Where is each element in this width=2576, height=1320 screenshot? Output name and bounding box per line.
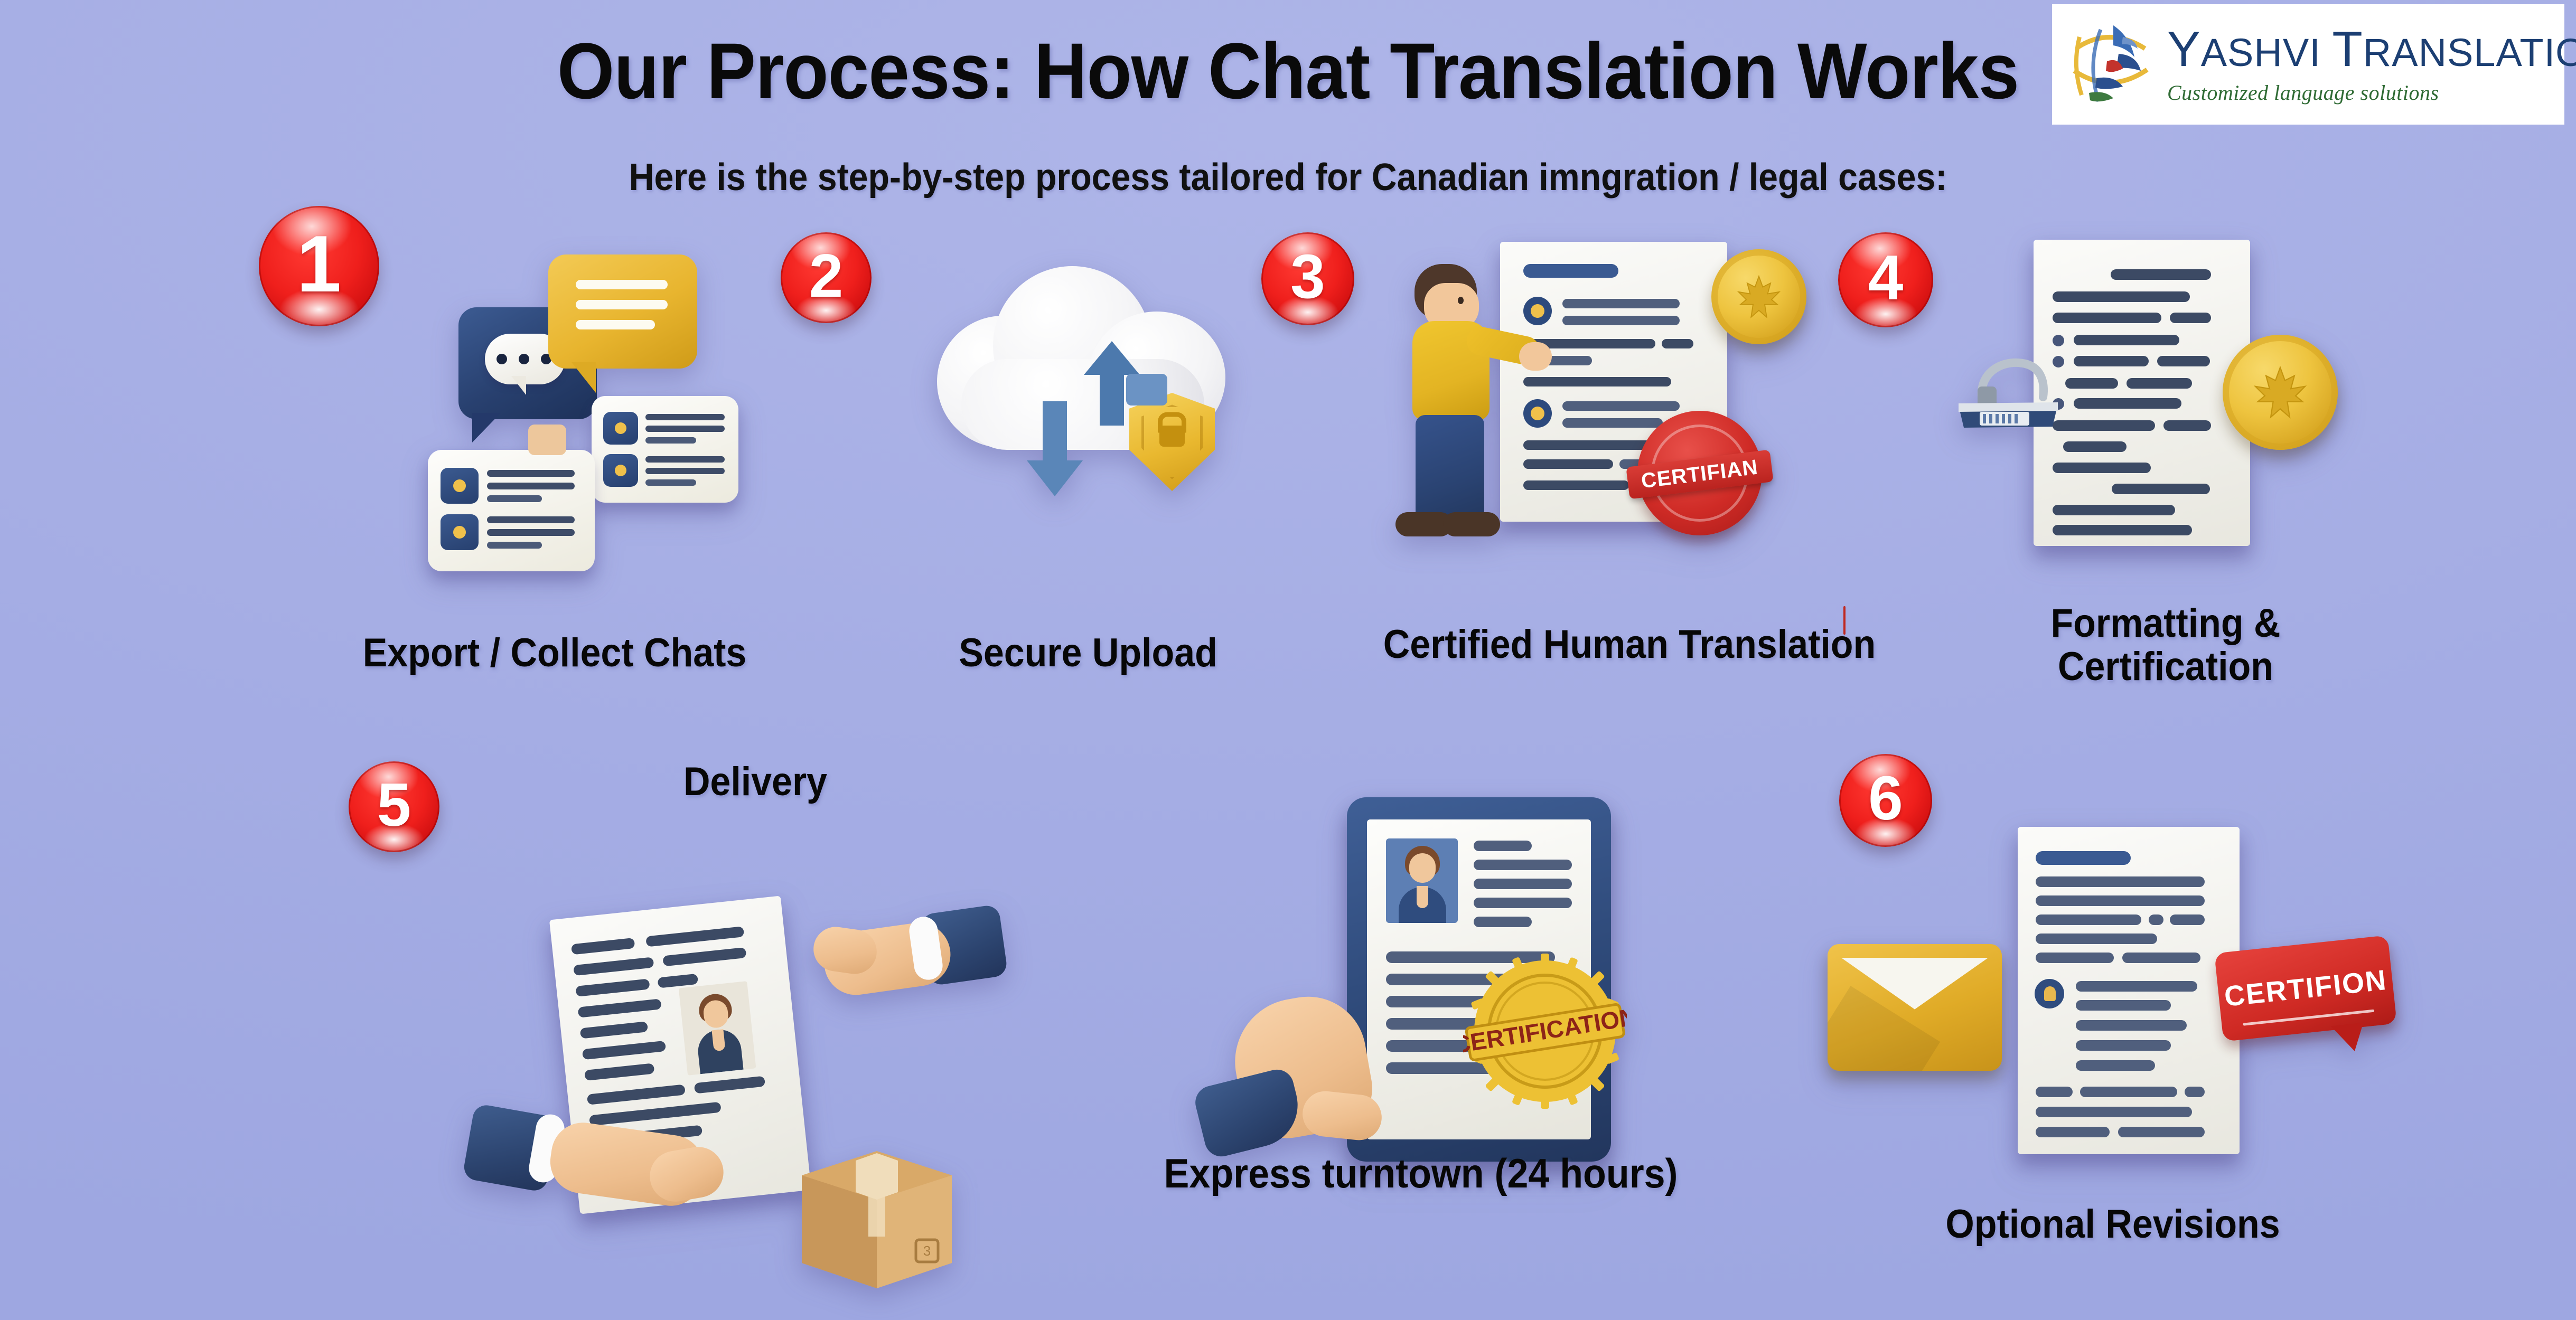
logo-name-ranslation: RANSLATION	[2363, 31, 2576, 74]
certified-stamp-icon: CERTIFIAN	[1637, 411, 1762, 535]
step-4-illustration	[1954, 222, 2377, 591]
envelope-icon	[1828, 944, 2002, 1071]
step-4-label-line-1: Formatting &	[1942, 602, 2389, 645]
logo-name-t: T	[2332, 21, 2363, 77]
gold-certification-seal-icon: CERTIFICATION	[1463, 949, 1627, 1113]
step-number-5: 5	[377, 774, 411, 835]
step-2-label-line-1: Secure Upload	[913, 631, 1263, 675]
message-card-icon	[428, 450, 595, 571]
step-number-badge-1: 1	[259, 206, 379, 326]
embosser-press-icon	[1954, 346, 2076, 447]
step-4-label: Formatting & Certification	[1942, 602, 2389, 689]
page-subtitle: Here is the step-by-step process tailore…	[103, 156, 2473, 199]
logo-name: YASHVI TRANSLATION	[2167, 24, 2576, 74]
document-icon	[2018, 827, 2240, 1154]
step-2-illustration	[930, 248, 1247, 576]
express-turnaround-label: Express turntown (24 hours)	[1110, 1151, 1732, 1195]
step-4-label-line-2: Certification	[1942, 645, 2389, 689]
certification-tag-icon: CERTIFION	[2214, 935, 2397, 1042]
express-turnaround-label-line-1: Express turntown (24 hours)	[1110, 1151, 1732, 1195]
step-3-illustration: CERTIFIAN	[1363, 222, 1891, 612]
arrow-down-icon	[1026, 401, 1084, 499]
step-2-label: Secure Upload	[913, 631, 1263, 675]
step-number-1: 1	[297, 224, 342, 304]
maple-coin-icon	[1711, 249, 1806, 344]
step-3-label-line-1: Certified Human Translation	[1311, 623, 1947, 666]
infographic-canvas: Our Process: How Chat Translation Works …	[0, 0, 2576, 1320]
step-number-badge-4: 4	[1838, 232, 1933, 327]
step-1-label: Export / Collect Chats	[336, 631, 773, 675]
step-6-label-line-1: Optional Revisions	[1831, 1203, 2394, 1246]
globe-icon	[2068, 16, 2158, 114]
logo-tagline: Customized language solutions	[2167, 80, 2576, 105]
avatar	[1386, 838, 1458, 923]
step-3-label: Certified Human Translation	[1311, 623, 1947, 666]
step-5-illustration: 3	[465, 898, 1014, 1288]
shield-lock-icon	[1129, 393, 1215, 491]
hand-icon	[1199, 993, 1421, 1162]
step-6-label: Optional Revisions	[1831, 1203, 2394, 1246]
certification-tag-text: CERTIFION	[2223, 964, 2388, 1013]
person-icon	[1373, 264, 1532, 560]
hand-icon	[465, 1098, 761, 1251]
step-number-2: 2	[809, 245, 844, 306]
message-card-icon	[592, 396, 738, 503]
logo-name-ashvi: ASHVI	[2201, 31, 2321, 74]
logo-name-y: Y	[2167, 21, 2201, 77]
parcel-box-icon: 3	[792, 1136, 961, 1289]
svg-text:3: 3	[923, 1243, 931, 1259]
brand-logo: YASHVI TRANSLATION Customized language s…	[2052, 4, 2564, 125]
step-1-illustration	[417, 222, 776, 591]
step-number-badge-5: 5	[349, 761, 439, 852]
step-1-label-line-1: Export / Collect Chats	[336, 631, 773, 675]
logo-text-block: YASHVI TRANSLATION Customized language s…	[2167, 24, 2576, 105]
step-6-illustration: CERTIFION	[1817, 803, 2419, 1183]
step-number-3: 3	[1290, 246, 1325, 308]
step-number-badge-3: 3	[1261, 232, 1354, 325]
avatar	[679, 981, 756, 1076]
step-number-4: 4	[1868, 246, 1904, 309]
step-5-label-line-1: Delivery	[570, 760, 940, 804]
chat-bubble-yellow-icon	[548, 254, 697, 369]
maple-coin-icon	[2223, 335, 2338, 450]
maple-leaf-icon	[1735, 272, 1783, 321]
maple-leaf-icon	[2251, 363, 2310, 422]
step-number-badge-2: 2	[781, 232, 872, 323]
express-turnaround-illustration: CERTIFICATION	[1178, 781, 1653, 1209]
step-5-label: Delivery	[570, 760, 940, 804]
